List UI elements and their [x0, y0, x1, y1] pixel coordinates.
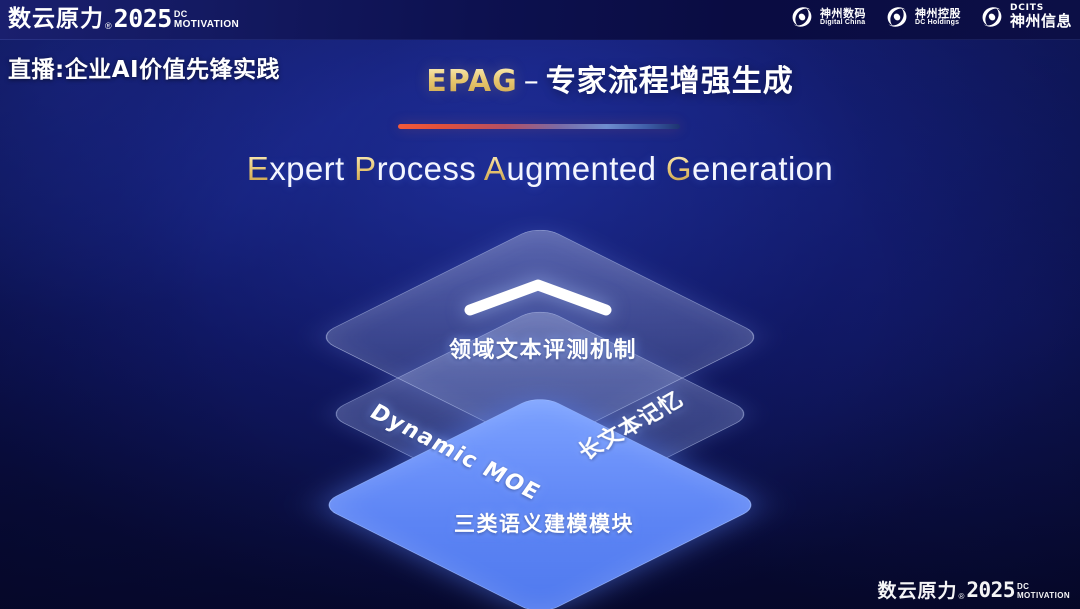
swirl-logo-icon — [884, 4, 910, 30]
logo-dc-holdings: 神州控股 DC Holdings — [884, 4, 961, 30]
registered-mark-icon: ® — [105, 22, 112, 31]
watermark-dc-motivation: DC MOTIVATION — [1017, 583, 1070, 601]
subtitle-cap-a: A — [484, 150, 506, 187]
logo-text-dcits: DCITS 神州信息 — [1010, 4, 1072, 29]
slide-subtitle-english: Expert Process Augmented Generation — [0, 150, 1080, 188]
logo-text-dc-holdings: 神州控股 DC Holdings — [915, 8, 961, 27]
gradient-divider — [398, 124, 680, 129]
title-chinese: 专家流程增强生成 — [546, 64, 794, 99]
brand-name-cn: 数云原力 — [8, 8, 104, 31]
presentation-slide: 领域文本评测机制 Dynamic MOE 长文本记忆 三类语义建模模块 EPAG… — [0, 0, 1080, 609]
swirl-logo-icon — [789, 4, 815, 30]
logo-dcits: DCITS 神州信息 — [979, 4, 1072, 30]
logo-en-digital-china: Digital China — [820, 19, 866, 26]
live-stream-title: 直播:企业AI价值先锋实践 — [8, 50, 280, 84]
subtitle-word-process: rocess — [377, 150, 484, 187]
diagram-layer-bottom-label: 三类语义建模模块 — [0, 508, 1080, 538]
swirl-logo-icon — [979, 4, 1005, 30]
logo-text-digital-china: 神州数码 Digital China — [820, 8, 866, 27]
logo-cn-dc-holdings: 神州控股 — [915, 8, 961, 20]
subtitle-word-expert: xpert — [269, 150, 354, 187]
watermark-dc-line1: DC — [1017, 583, 1070, 591]
subtitle-cap-g: G — [666, 150, 692, 187]
title-dash: – — [524, 64, 540, 99]
subtitle-word-augmented: ugmented — [506, 150, 666, 187]
diagram-layer-top-label: 领域文本评测机制 — [0, 332, 1080, 364]
subtitle-cap-e: E — [247, 150, 269, 187]
brand-dc-motivation: DC MOTIVATION — [174, 10, 239, 31]
subtitle-cap-p: P — [354, 150, 376, 187]
watermark-dc-line2: MOTIVATION — [1017, 592, 1070, 600]
watermark-year: 2025 — [966, 580, 1015, 601]
logo-cn-dcits: 神州信息 — [1010, 14, 1072, 30]
brand-logo-watermark: 数云原力 ® 2025 DC MOTIVATION — [877, 580, 1070, 601]
watermark-name-cn: 数云原力 — [877, 582, 957, 601]
title-acronym: EPAG — [426, 64, 518, 99]
chevron-up-icon — [464, 278, 612, 316]
logo-cn-digital-china: 神州数码 — [820, 8, 866, 20]
brand-dc-line1: DC — [174, 10, 239, 19]
partner-logos-group: 神州数码 Digital China 神州控股 DC Holdings — [789, 4, 1072, 30]
subtitle-word-generation: eneration — [692, 150, 833, 187]
brand-logo-header: 数云原力 ® 2025 DC MOTIVATION — [8, 6, 239, 31]
brand-dc-line2: MOTIVATION — [174, 20, 239, 30]
watermark-registered-icon: ® — [958, 593, 964, 601]
logo-en-dc-holdings: DC Holdings — [915, 19, 961, 26]
logo-digital-china: 神州数码 Digital China — [789, 4, 866, 30]
brand-year: 2025 — [114, 6, 172, 31]
